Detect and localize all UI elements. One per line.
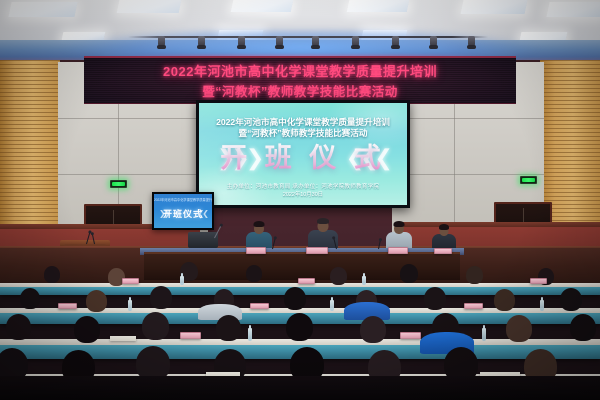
panel-light	[231, 0, 294, 12]
slide-date-line: 2022年10月30日	[199, 191, 407, 199]
audience-name-card	[400, 332, 421, 339]
slide-title-line-2: 暨“河教杯”教师教学技能比赛活动	[199, 128, 407, 139]
audience-head	[246, 265, 262, 282]
handout-paper	[110, 336, 136, 341]
name-placard	[306, 247, 328, 254]
audience-head	[74, 316, 100, 343]
wall-seam	[58, 118, 208, 119]
av-equipment	[188, 232, 218, 248]
slide-main-heading: 开 班 仪 式	[199, 143, 407, 173]
spotlight	[158, 36, 165, 47]
water-bottle	[248, 328, 252, 341]
exit-sign-left	[110, 180, 127, 188]
wall-trim-right	[398, 222, 600, 227]
water-bottle	[330, 300, 334, 311]
wall-seam	[392, 118, 544, 119]
audience-head	[560, 288, 582, 311]
audience-head	[494, 289, 515, 311]
spotlight	[198, 36, 205, 47]
water-bottle	[540, 300, 544, 311]
spotlight	[468, 36, 475, 47]
audience-head	[360, 316, 386, 343]
audience-head	[286, 313, 313, 341]
person-hair	[439, 224, 449, 230]
audience-head	[400, 264, 418, 283]
projection-screen-content: 2022年河池市高中化学课堂教学质量提升培训 暨“河教杯”教师教学技能比赛活动 …	[199, 103, 407, 205]
name-placard	[246, 247, 266, 254]
side-display-content: 2022年河池市高中化学课堂教学质量提升培训 ❯❯ ❮❮ 开班仪式	[154, 194, 212, 228]
audience-name-card	[530, 278, 547, 284]
audience-head	[20, 288, 40, 309]
led-banner-line-1: 2022年河池市高中化学课堂教学质量提升培训	[84, 58, 516, 83]
audience-head	[466, 266, 483, 284]
side-display-title: 2022年河池市高中化学课堂教学质量提升培训	[154, 198, 212, 202]
exit-sign-right	[520, 176, 537, 184]
slide-organizer-line: 主办单位：河池市教育局 承办单位：河池学院教师教育学院	[199, 183, 407, 191]
water-bottle	[180, 276, 184, 285]
spotlight	[312, 36, 319, 47]
panel-light	[461, 0, 528, 14]
audience-name-card	[122, 278, 139, 284]
audience-head	[570, 314, 596, 341]
panel-light	[347, 0, 410, 12]
foreground-shadow	[0, 376, 600, 400]
conference-hall-scene: 2022年河池市高中化学课堂教学质量提升培训 暨“河教杯”教师教学技能比赛活动 …	[0, 0, 600, 400]
audience-head	[424, 287, 446, 310]
person-hair	[254, 221, 265, 227]
spotlight	[430, 36, 437, 47]
name-placard	[434, 248, 452, 254]
person-hair	[394, 221, 405, 227]
wall-seam	[58, 174, 208, 175]
audience-head	[216, 315, 241, 341]
audience-head	[44, 266, 60, 283]
audience-name-card	[58, 303, 77, 309]
side-display-heading: 开班仪式	[154, 208, 212, 220]
panel-light	[117, 0, 182, 13]
audience-head	[86, 290, 107, 312]
water-bottle	[128, 300, 132, 311]
person-hair	[317, 218, 329, 224]
audience-name-card	[464, 303, 483, 309]
slide-title-line-1: 2022年河池市高中化学课堂教学质量提升培训	[199, 117, 407, 128]
audience-head	[150, 286, 172, 309]
spotlight	[276, 36, 283, 47]
spotlight	[238, 36, 245, 47]
name-placard	[388, 247, 408, 254]
audience-name-card	[250, 303, 269, 309]
panel-light	[546, 2, 600, 17]
audience-name-card	[298, 278, 315, 284]
led-banner: 2022年河池市高中化学课堂教学质量提升培训 暨“河教杯”教师教学技能比赛活动	[84, 56, 516, 104]
audience-head	[506, 315, 532, 342]
spotlight	[352, 36, 359, 47]
water-bottle	[362, 276, 366, 285]
audience-head	[142, 312, 169, 340]
side-display-monitor: 2022年河池市高中化学课堂教学质量提升培训 ❯❯ ❮❮ 开班仪式	[152, 192, 214, 230]
wall-seam	[392, 174, 544, 175]
panel-light	[8, 2, 77, 17]
spotlight	[392, 36, 399, 47]
projection-screen: 2022年河池市高中化学课堂教学质量提升培训 暨“河教杯”教师教学技能比赛活动 …	[196, 100, 410, 208]
audience-head	[330, 267, 347, 285]
wood-acoustic-panel-left	[0, 60, 60, 250]
water-bottle	[482, 328, 486, 341]
audience-head	[284, 287, 306, 310]
audience-head	[6, 314, 31, 340]
audience-name-card	[180, 332, 201, 339]
